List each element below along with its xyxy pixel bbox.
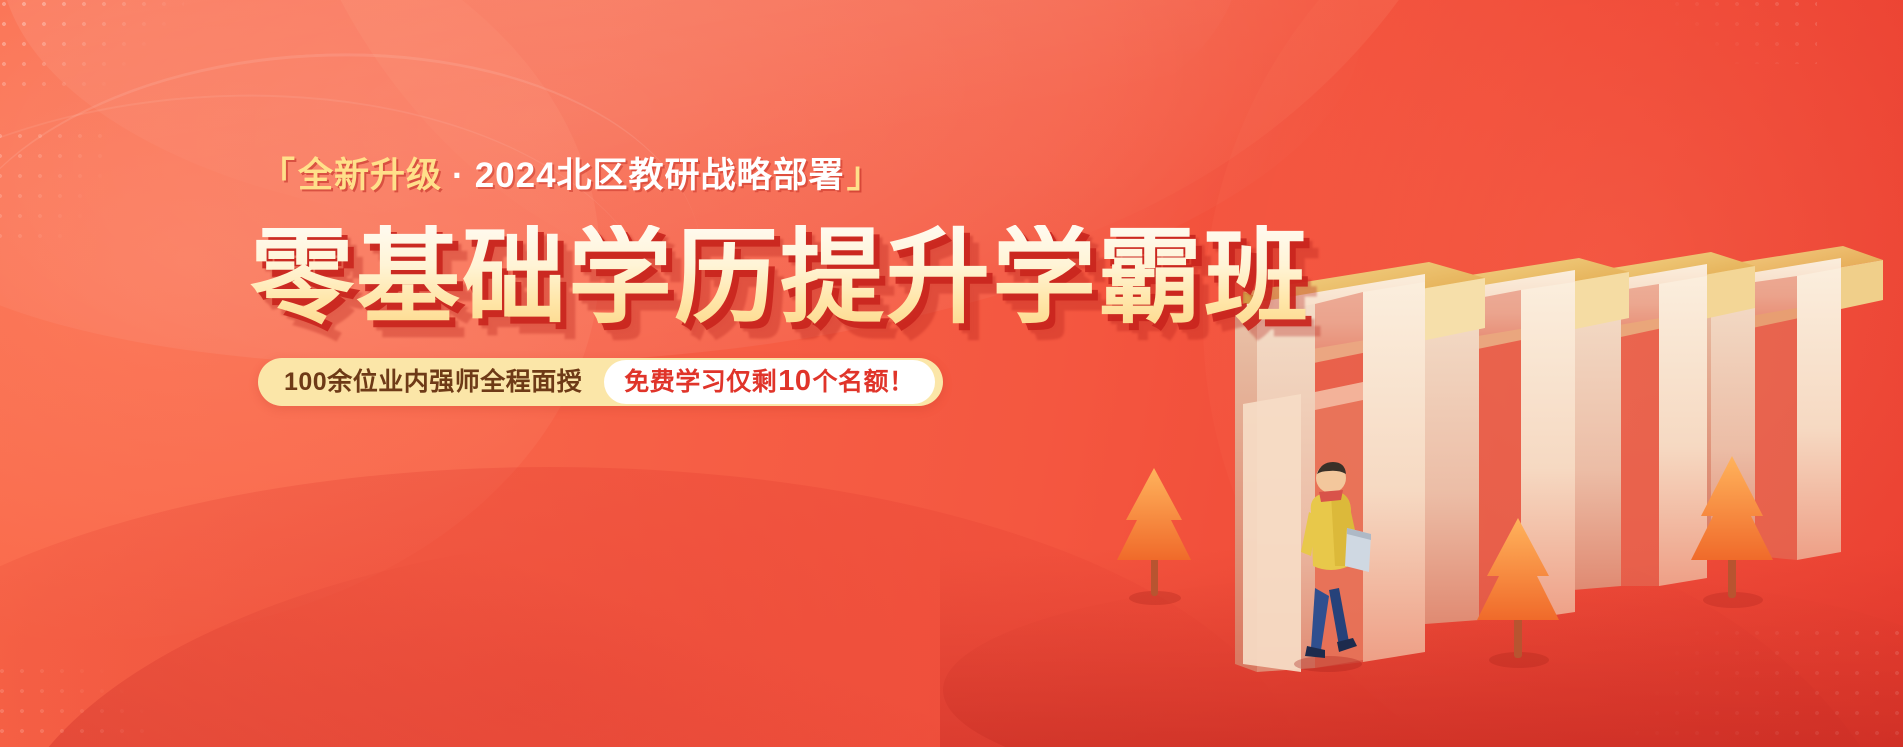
badge-seats-remaining: 免费学习仅剩10个名额！ bbox=[604, 360, 934, 404]
subtitle-rest: 2024北区教研战略部署 bbox=[475, 156, 845, 195]
subtitle-bracket-open: 「 bbox=[260, 156, 296, 195]
subtitle-bracket-close: 」 bbox=[847, 156, 883, 195]
badge-left-label: 100余位业内强师全程面授 bbox=[284, 370, 604, 395]
banner-badge: 100余位业内强师全程面授 免费学习仅剩10个名额！ bbox=[258, 358, 943, 406]
banner-subtitle: 「全新升级·2024北区教研战略部署」 bbox=[258, 158, 885, 193]
badge-right-suffix: 个名额！ bbox=[813, 370, 915, 395]
banner-copy: 「全新升级·2024北区教研战略部署」 零基础学历提升学霸班 100余位业内强师… bbox=[0, 0, 1100, 747]
badge-right-prefix: 免费学习仅剩 bbox=[624, 370, 777, 395]
tree-small-left bbox=[1117, 468, 1191, 605]
subtitle-separator: · bbox=[452, 156, 465, 195]
badge-right-number: 10 bbox=[778, 367, 811, 396]
banner-headline: 零基础学历提升学霸班 bbox=[250, 225, 1310, 331]
subtitle-highlight: 全新升级 bbox=[298, 156, 442, 195]
promo-banner: 「全新升级·2024北区教研战略部署」 零基础学历提升学霸班 100余位业内强师… bbox=[0, 0, 1903, 747]
